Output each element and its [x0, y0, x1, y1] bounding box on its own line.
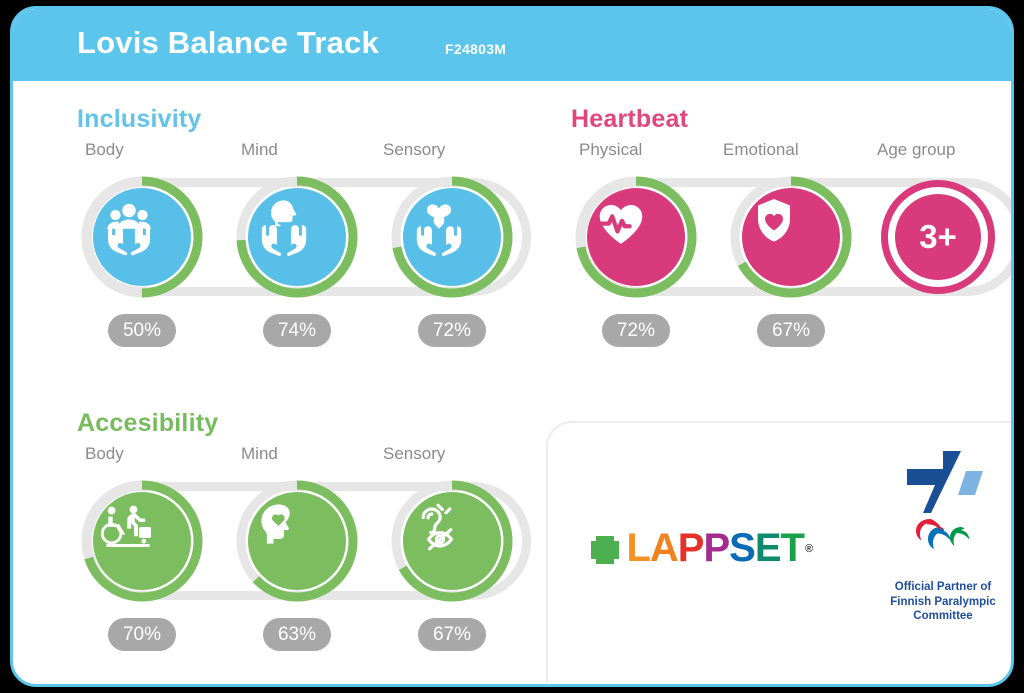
product-code: F24803M	[445, 41, 506, 57]
column-label: Sensory	[383, 444, 445, 464]
lappset-letter: T	[781, 528, 804, 568]
registered-mark: ®	[805, 544, 812, 555]
paralympic-logo-icon	[883, 441, 1003, 571]
pill-row-heartbeat: 72% 67%	[571, 314, 1014, 348]
column-label: Physical	[579, 140, 642, 160]
gauge-heartbeat-emotional[interactable]	[726, 172, 856, 302]
paralympic-partner-text: Official Partner of Finnish Paralympic C…	[878, 580, 1008, 624]
gauge-row-heartbeat: 3+	[571, 172, 1014, 302]
gauge-row-inclusivity	[77, 172, 537, 302]
screenshot-frame: Lovis Balance Track F24803M Inclusivity …	[0, 0, 1024, 693]
deaf-blind-icon	[403, 492, 501, 590]
wheelchair-assist-icon	[93, 492, 191, 590]
gauge-accesibility-mind[interactable]	[232, 476, 362, 606]
section-title-accesibility: Accesibility	[77, 409, 537, 438]
section-heartbeat: Heartbeat Physical Emotional Age group	[571, 105, 1014, 348]
gauge-row-accesibility	[77, 476, 537, 606]
column-labels-inclusivity: Body Mind Sensory	[77, 140, 537, 164]
lappset-clover-icon	[588, 533, 622, 567]
section-title-inclusivity: Inclusivity	[77, 105, 537, 134]
paralympic-text-line2: Finnish Paralympic	[878, 595, 1008, 610]
hands-holding-head-heart-icon	[248, 188, 346, 286]
paralympic-partner-badge: Official Partner of Finnish Paralympic C…	[878, 441, 1008, 624]
lappset-letter: A	[650, 528, 678, 568]
column-label: Body	[85, 444, 124, 464]
gauge-accesibility-sensory[interactable]	[387, 476, 517, 606]
lappset-letter: S	[729, 528, 755, 568]
gauge-accesibility-body[interactable]	[77, 476, 207, 606]
status-badge: 72%	[418, 314, 486, 347]
column-label: Emotional	[723, 140, 799, 160]
lappset-letter: P	[703, 528, 729, 568]
age-badge-icon[interactable]: 3+	[881, 180, 995, 294]
status-badge: 72%	[602, 314, 670, 347]
column-label: Age group	[877, 140, 955, 160]
age-group-value: 3+	[895, 194, 981, 280]
card-header: Lovis Balance Track F24803M	[13, 9, 1011, 81]
head-heart-icon	[248, 492, 346, 590]
heart-pulse-icon	[587, 188, 685, 286]
lappset-letter: P	[678, 528, 704, 568]
balance-track-card: Lovis Balance Track F24803M Inclusivity …	[10, 6, 1014, 687]
column-label: Body	[85, 140, 124, 160]
column-labels-heartbeat: Physical Emotional Age group	[571, 140, 1014, 164]
pill-row-inclusivity: 50% 74% 72%	[77, 314, 537, 348]
status-badge: 63%	[263, 618, 331, 651]
column-labels-accesibility: Body Mind Sensory	[77, 444, 537, 468]
status-badge: 70%	[108, 618, 176, 651]
status-badge: 50%	[108, 314, 176, 347]
section-accesibility: Accesibility Body Mind Sensory	[77, 409, 537, 652]
hands-holding-clover-icon	[403, 188, 501, 286]
gauge-inclusivity-mind[interactable]	[232, 172, 362, 302]
status-badge: 67%	[418, 618, 486, 651]
lappset-logo: LAPPSET®	[588, 528, 811, 568]
column-label: Sensory	[383, 140, 445, 160]
hands-holding-group-icon	[93, 188, 191, 286]
partner-logo-panel: LAPPSET® Official Partner of Finnish Pa	[546, 421, 1011, 683]
column-label: Mind	[241, 444, 278, 464]
gauge-heartbeat-physical[interactable]	[571, 172, 701, 302]
paralympic-text-line3: Committee	[878, 609, 1008, 624]
column-label: Mind	[241, 140, 278, 160]
shield-heart-icon	[742, 188, 840, 286]
section-title-heartbeat: Heartbeat	[571, 105, 1014, 134]
gauge-inclusivity-sensory[interactable]	[387, 172, 517, 302]
gauge-inclusivity-body[interactable]	[77, 172, 207, 302]
status-badge: 67%	[757, 314, 825, 347]
paralympic-text-line1: Official Partner of	[878, 580, 1008, 595]
lappset-wordmark: LAPPSET®	[626, 526, 811, 570]
lappset-letter: E	[755, 528, 781, 568]
section-inclusivity: Inclusivity Body Mind Sensory	[77, 105, 537, 348]
pill-row-accesibility: 70% 63% 67%	[77, 618, 537, 652]
lappset-letter: L	[626, 528, 649, 568]
page-title: Lovis Balance Track	[77, 25, 379, 61]
status-badge: 74%	[263, 314, 331, 347]
